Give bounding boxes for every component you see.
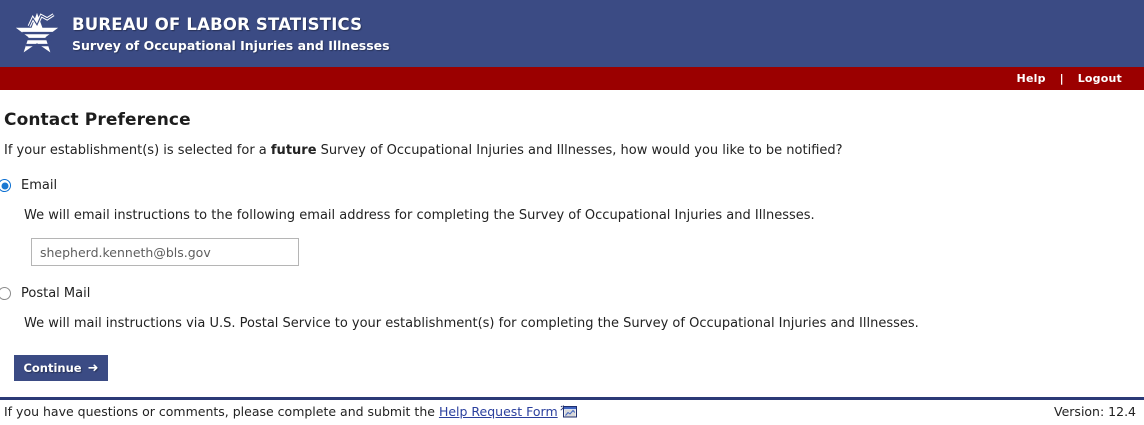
header-titles: BUREAU OF LABOR STATISTICS Survey of Occ… <box>72 14 390 53</box>
help-link[interactable]: Help <box>1017 72 1046 85</box>
site-footer: If you have questions or comments, pleas… <box>0 397 1144 425</box>
bls-star-chart-logo-icon <box>14 11 60 57</box>
radio-postal-mail-label: Postal Mail <box>21 286 90 301</box>
utility-separator: | <box>1060 72 1064 85</box>
radio-option-postal-mail[interactable]: Postal Mail <box>0 286 1144 301</box>
footer-row: If you have questions or comments, pleas… <box>0 400 1144 425</box>
utility-bar: Help | Logout <box>0 67 1144 90</box>
new-window-icon[interactable] <box>560 405 577 418</box>
radio-postal-mail-icon[interactable] <box>0 287 11 300</box>
question-emphasis: future <box>271 143 317 158</box>
logout-link[interactable]: Logout <box>1078 72 1122 85</box>
help-request-form-link[interactable]: Help Request Form <box>439 404 558 419</box>
radio-email-label: Email <box>21 178 57 193</box>
intro-question: If your establishment(s) is selected for… <box>4 143 1144 158</box>
postal-mail-option-description: We will mail instructions via U.S. Posta… <box>24 316 1144 331</box>
radio-email-icon[interactable] <box>0 179 11 192</box>
email-option-description: We will email instructions to the follow… <box>24 208 1144 223</box>
question-prefix: If your establishment(s) is selected for… <box>4 143 271 158</box>
question-suffix: Survey of Occupational Injuries and Illn… <box>317 143 843 158</box>
footer-help-sentence: If you have questions or comments, pleas… <box>4 404 435 419</box>
continue-button-label: Continue <box>23 361 81 375</box>
site-header: BUREAU OF LABOR STATISTICS Survey of Occ… <box>0 0 1144 67</box>
radio-option-email[interactable]: Email <box>0 178 1144 193</box>
main-content: Contact Preference If your establishment… <box>0 110 1144 381</box>
continue-button[interactable]: Continue ➜ <box>14 355 108 381</box>
arrow-right-icon: ➜ <box>88 362 99 375</box>
footer-help-text: If you have questions or comments, pleas… <box>4 404 577 419</box>
survey-name: Survey of Occupational Injuries and Illn… <box>72 39 390 53</box>
page-title: Contact Preference <box>4 110 1144 130</box>
agency-name: BUREAU OF LABOR STATISTICS <box>72 16 390 35</box>
footer-version: Version: 12.4 <box>1054 404 1140 419</box>
email-address-input[interactable] <box>31 238 299 266</box>
